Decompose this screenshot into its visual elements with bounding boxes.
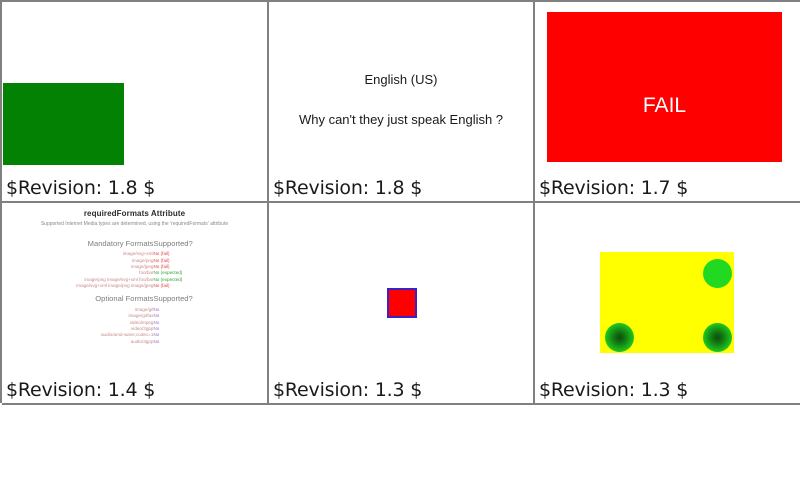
render-canvas-4: requiredFormats Attribute Supported Inte… [2, 203, 267, 403]
fail-label: FAIL [547, 94, 782, 118]
green-circle-bottom-right [703, 323, 732, 352]
mandatory-formats-table: Mandatory Formats Supported? image/svg+x… [76, 234, 193, 345]
revision-label: $Revision: 1.8 $ [273, 177, 422, 199]
green-rectangle-shape [3, 83, 124, 165]
document-subtitle: Supported Internet Media types are deter… [2, 221, 267, 227]
render-canvas-1 [2, 2, 267, 201]
fail-rectangle-shape: FAIL [547, 12, 782, 162]
test-result-grid: $Revision: 1.8 $ English (US) Why can't … [0, 0, 800, 403]
language-label: English (US) [269, 72, 533, 87]
test-cell-red-square: $Revision: 1.3 $ [269, 203, 535, 405]
test-cell-yellow-rect-circles: $Revision: 1.3 $ [535, 203, 800, 405]
render-canvas-5 [269, 203, 533, 403]
table-row: audio/3gpp No [76, 339, 193, 345]
language-question-text: Why can't they just speak English ? [269, 112, 533, 127]
render-canvas-3: FAIL [535, 2, 800, 201]
render-canvas-6 [535, 203, 800, 403]
revision-label: $Revision: 1.3 $ [539, 379, 688, 401]
table-header-row: Optional Formats Supported? [76, 289, 193, 306]
render-canvas-2: English (US) Why can't they just speak E… [269, 2, 533, 201]
test-cell-green-rect: $Revision: 1.8 $ [2, 2, 269, 203]
document-title: requiredFormats Attribute [2, 209, 267, 218]
revision-label: $Revision: 1.4 $ [6, 379, 155, 401]
format-type: image/svg+xml image/png image/jpeg [76, 283, 153, 289]
format-type: audio/3gpp [76, 339, 153, 345]
optional-formats-header: Optional Formats [76, 289, 153, 306]
green-circle-top-right [703, 259, 732, 288]
supported-header: Supported? [153, 234, 192, 251]
red-square-shape [387, 288, 417, 318]
test-cell-required-formats: requiredFormats Attribute Supported Inte… [2, 203, 269, 405]
test-cell-fail-box: FAIL $Revision: 1.7 $ [535, 2, 800, 203]
format-supported: No [153, 339, 192, 345]
table-header-row: Mandatory Formats Supported? [76, 234, 193, 251]
mandatory-formats-header: Mandatory Formats [76, 234, 153, 251]
revision-label: $Revision: 1.3 $ [273, 379, 422, 401]
required-formats-document: requiredFormats Attribute Supported Inte… [2, 203, 267, 345]
green-circle-bottom-left [605, 323, 634, 352]
supported-header: Supported? [153, 289, 192, 306]
revision-label: $Revision: 1.7 $ [539, 177, 688, 199]
test-cell-system-language: English (US) Why can't they just speak E… [269, 2, 535, 203]
revision-label: $Revision: 1.8 $ [6, 177, 155, 199]
